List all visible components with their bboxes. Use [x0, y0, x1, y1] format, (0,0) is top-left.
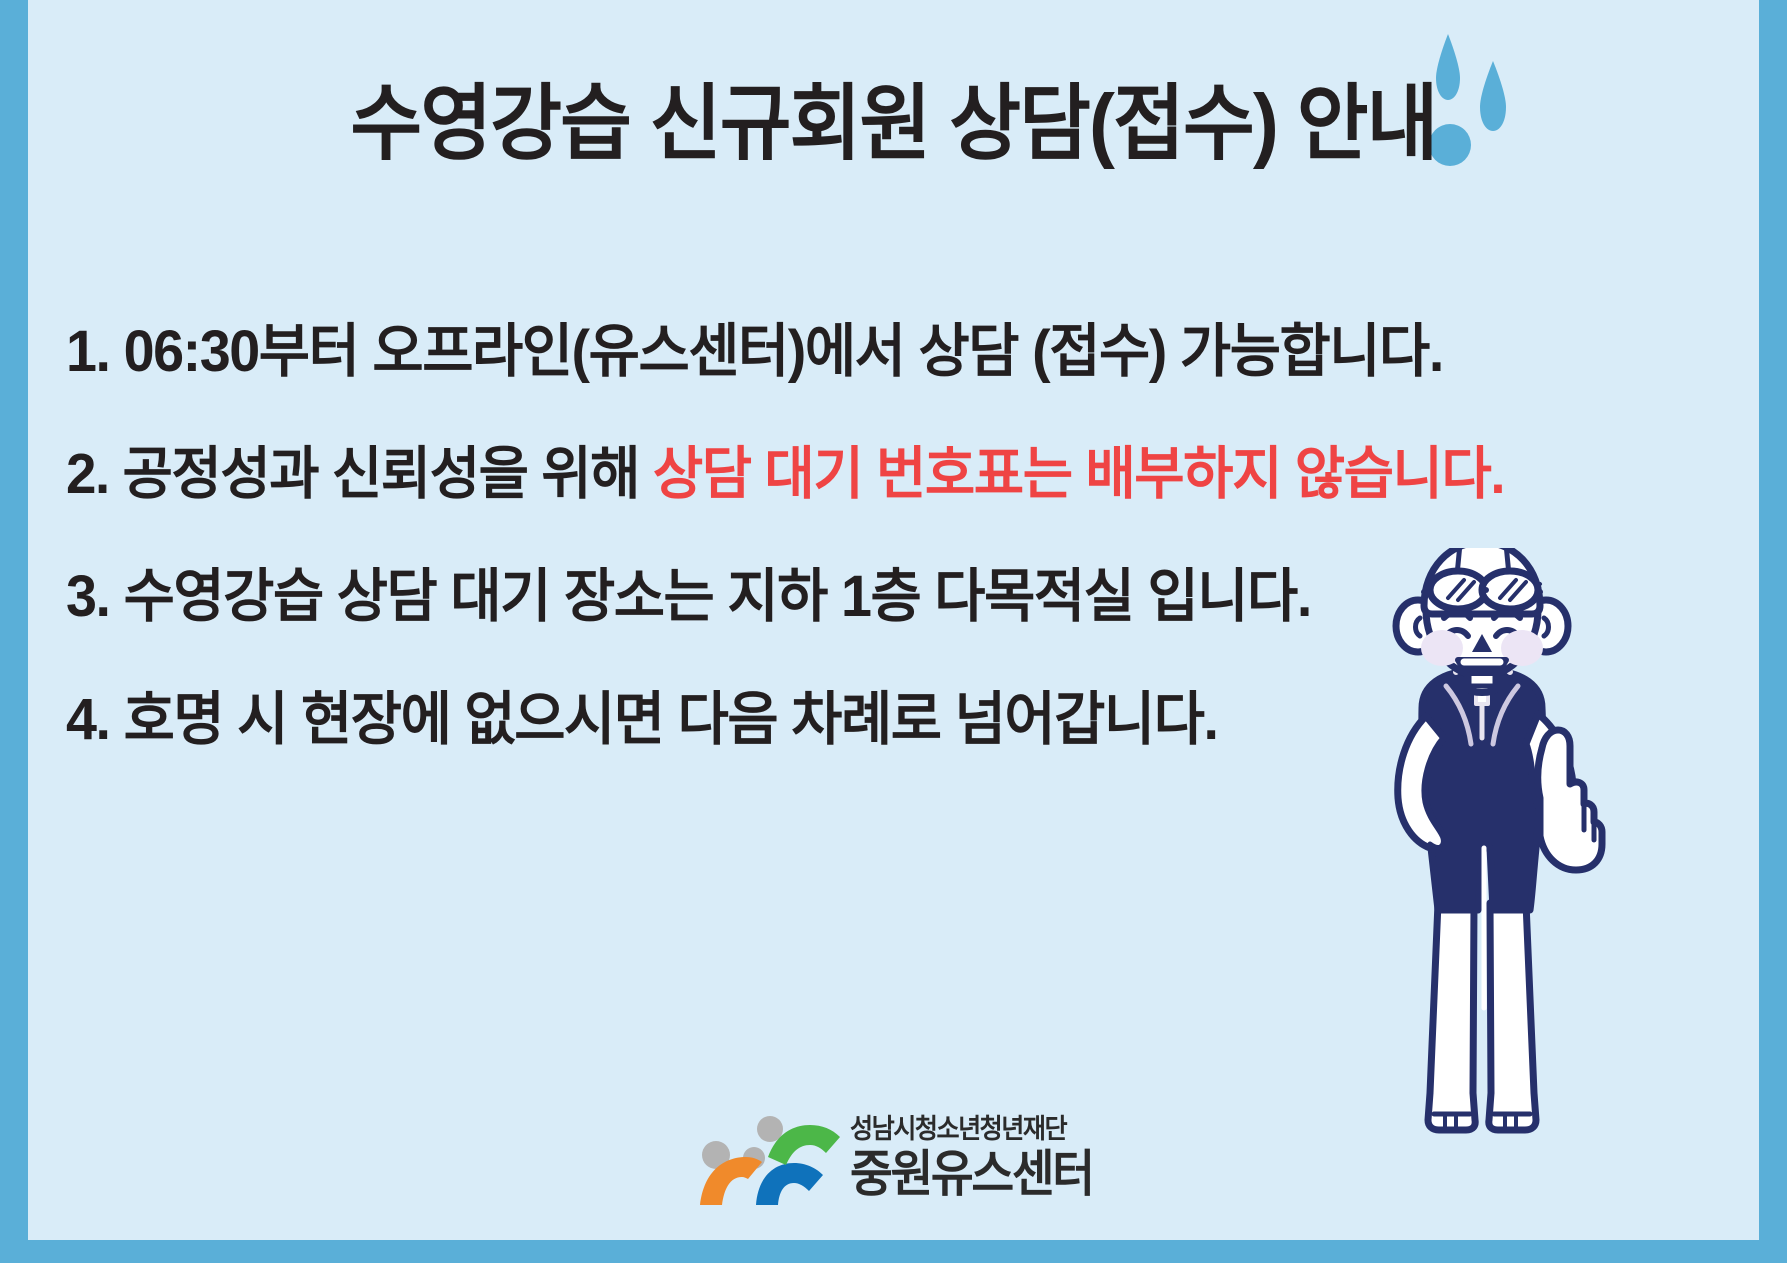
swimmer-mascot-illustration	[1318, 548, 1648, 1148]
notice-number-4: 4.	[66, 687, 110, 752]
organization-logo: 성남시청소년청년재단 중원유스센터	[696, 1098, 1126, 1218]
notice-text-4: 호명 시 현장에 없으시면 다음 차례로 넘어갑니다.	[124, 687, 1218, 752]
notice-text-1: 06:30부터 오프라인(유스센터)에서 상담 (접수) 가능합니다.	[124, 319, 1443, 384]
logo-foundation-name: 성남시청소년청년재단	[850, 1116, 1093, 1143]
notice-highlight-2: 상담 대기 번호표는 배부하지 않습니다.	[653, 442, 1504, 506]
notice-number-2: 2.	[66, 442, 109, 506]
logo-mark-icon	[696, 1103, 842, 1213]
notice-number-1: 1.	[66, 319, 110, 384]
poster-root: 수영강습 신규회원 상담(접수) 안내 1. 06:30부터 오프라인(유스센터…	[0, 0, 1787, 1263]
page-title: 수영강습 신규회원 상담(접수) 안내	[80, 78, 1707, 169]
logo-text-block: 성남시청소년청년재단 중원유스센터	[850, 1116, 1111, 1201]
logo-center-name: 중원유스센터	[850, 1148, 1093, 1201]
notice-number-3: 3.	[66, 564, 110, 629]
notice-item-2: 2. 공정성과 신뢰성을 위해 상담 대기 번호표는 배부하지 않습니다.	[66, 445, 1660, 505]
notice-item-1: 1. 06:30부터 오프라인(유스센터)에서 상담 (접수) 가능합니다.	[66, 322, 1660, 383]
notice-text-2: 공정성과 신뢰성을 위해	[123, 442, 640, 506]
notice-text-3: 수영강습 상담 대기 장소는 지하 1층 다목적실 입니다.	[124, 564, 1311, 629]
poster-inner-panel: 수영강습 신규회원 상담(접수) 안내 1. 06:30부터 오프라인(유스센터…	[28, 0, 1759, 1240]
